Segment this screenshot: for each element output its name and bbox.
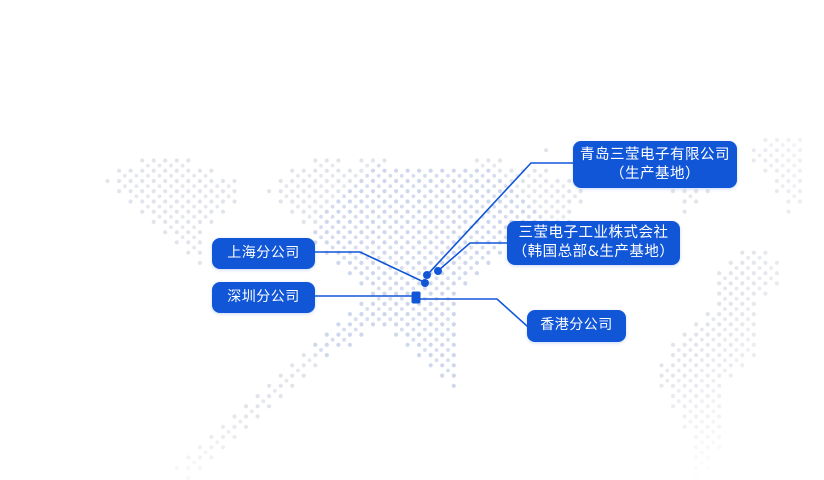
location-chip-shanghai[interactable]: 上海分公司 xyxy=(212,238,315,269)
location-chip-hongkong[interactable]: 香港分公司 xyxy=(527,310,626,342)
location-chip-shenzhen[interactable]: 深圳分公司 xyxy=(212,282,315,313)
world-map-dots xyxy=(0,0,824,480)
map-marker-hongkong[interactable] xyxy=(412,295,421,304)
world-map-background xyxy=(0,0,824,480)
map-marker-qingdao[interactable] xyxy=(423,271,431,279)
location-chip-line1: 上海分公司 xyxy=(227,245,300,263)
map-marker-korea-hq[interactable] xyxy=(434,267,442,275)
location-chip-qingdao[interactable]: 青岛三莹电子有限公司（生产基地） xyxy=(573,141,737,188)
location-chip-line1: 青岛三莹电子有限公司 xyxy=(580,146,730,165)
location-chip-line1: 深圳分公司 xyxy=(227,289,300,307)
location-chip-korea-hq[interactable]: 三莹电子工业株式会社（韩国总部&生产基地） xyxy=(507,221,680,265)
locations-map-canvas: 青岛三莹电子有限公司（生产基地）三莹电子工业株式会社（韩国总部&生产基地）上海分… xyxy=(0,0,824,480)
location-chip-line2: （生产基地） xyxy=(610,165,700,184)
location-chip-line1: 三莹电子工业株式会社 xyxy=(519,224,669,243)
location-chip-line2: （韩国总部&生产基地） xyxy=(513,243,675,262)
location-chip-line1: 香港分公司 xyxy=(540,317,613,335)
map-marker-shanghai[interactable] xyxy=(421,279,429,287)
